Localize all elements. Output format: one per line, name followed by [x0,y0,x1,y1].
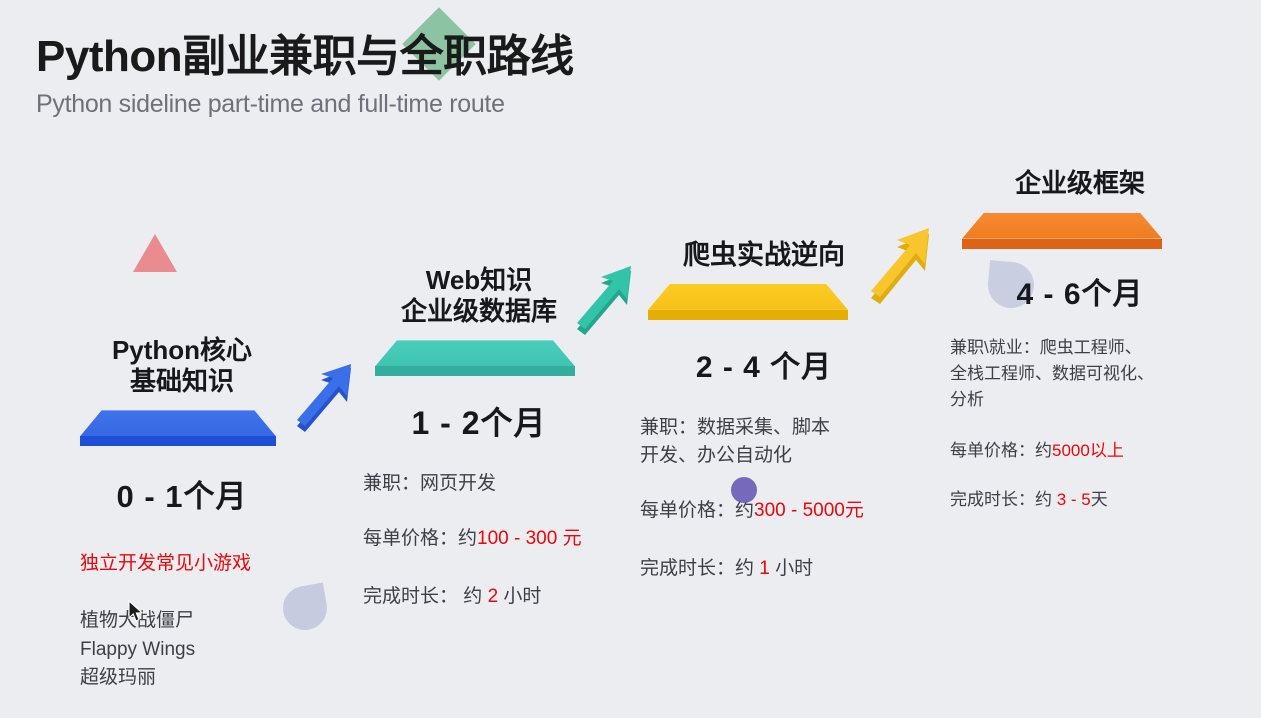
stage-time-unit: 天 [1091,490,1108,509]
stage-time-unit: 小时 [498,586,541,607]
stage-price-value: 100 - 300 元 [477,528,582,549]
stage-time-value: 1 [759,558,770,579]
stage-slab-yellow [648,284,848,320]
purple-dot-decoration [731,477,757,503]
slab-edge [962,239,1162,249]
title-area: Python副业兼职与全职路线 Python sideline part-tim… [36,34,574,119]
stage-duration: 1 - 2个月 [363,398,595,444]
stage-time-value: 2 [488,586,499,607]
slab-top [80,410,276,436]
stage-price-row: 每单价格：约5000以上 [950,438,1210,464]
stage-time-label: 完成时长： 约 [363,586,488,607]
stage-highlight-line: 独立开发常见小游戏 [62,548,302,575]
slab-edge [375,366,575,376]
stage-price-value: 5000以上 [1052,441,1124,460]
stage-duration: 4 - 6个月 [950,269,1210,313]
stage-time-label: 完成时长：约 [950,490,1057,509]
stage-job-label: 兼职\就业：爬虫工程师、 全栈工程师、数据可视化、 分析 [950,335,1210,414]
stage-price-row: 每单价格：约100 - 300 元 [363,525,595,554]
stage-heading: Web知识 企业级数据库 [363,265,595,326]
stage-time-value: 3 - 5 [1057,490,1091,509]
stage-price-label: 每单价格：约 [363,528,477,549]
stage-duration: 2 - 4 个月 [640,342,888,386]
stage-heading: 爬虫实战逆向 [640,240,888,272]
stage-slab-teal [375,340,575,376]
slab-edge [80,436,276,446]
mouse-cursor-icon [128,600,144,628]
stage-price-row: 每单价格：约300 - 5000元 [640,497,888,526]
stage-job-label: 兼职：网页开发 [363,470,595,499]
stage-duration: 0 - 1个月 [62,471,302,516]
stage-column-python-core: Python核心 基础知识 0 - 1个月 独立开发常见小游戏 植物大战僵尸 F… [62,335,302,693]
stage-slab-orange [962,213,1162,249]
slab-top [648,284,848,310]
stage-column-web-knowledge: Web知识 企业级数据库 1 - 2个月 兼职：网页开发 每单价格：约100 -… [363,265,595,612]
stage-time-row: 完成时长：约 3 - 5天 [950,487,1210,513]
slab-edge [648,310,848,320]
stage-job-label: 兼职：数据采集、脚本 开发、办公自动化 [640,414,888,471]
stage-time-row: 完成时长：约 1 小时 [640,555,888,584]
stage-column-spider-reverse: 爬虫实战逆向 2 - 4 个月 兼职：数据采集、脚本 开发、办公自动化 每单价格… [640,240,888,584]
stage-time-row: 完成时长： 约 2 小时 [363,583,595,612]
stage-time-unit: 小时 [770,558,813,579]
stage-game-list: 植物大战僵尸 Flappy Wings 超级玛丽 [62,607,302,693]
stage-slab-blue [80,410,276,446]
triangle-decoration [133,234,177,272]
stage-price-label: 每单价格：约 [640,500,754,521]
stage-time-label: 完成时长：约 [640,558,759,579]
infographic-canvas: Python副业兼职与全职路线 Python sideline part-tim… [0,0,1261,718]
stage-column-enterprise-framework: 企业级框架 4 - 6个月 兼职\就业：爬虫工程师、 全栈工程师、数据可视化、 … [950,168,1210,513]
arrow-blue-icon [293,362,355,437]
stage-heading: Python核心 基础知识 [62,335,302,396]
stage-heading: 企业级框架 [950,168,1210,199]
stage-price-label: 每单价格：约 [950,441,1052,460]
slab-top [962,213,1162,239]
stage-price-value: 300 - 5000元 [754,500,864,521]
slab-top [375,340,575,366]
page-subtitle: Python sideline part-time and full-time … [36,90,574,119]
page-title: Python副业兼职与全职路线 [36,34,574,80]
